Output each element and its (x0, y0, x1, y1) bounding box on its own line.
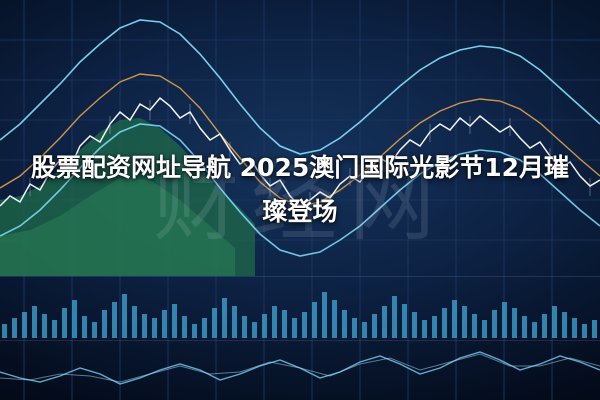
oscillator-signal-line (0, 354, 600, 382)
chart-screenshot: 财经网 股票配资网址导航 2025澳门国际光影节12月璀璨登场 (0, 0, 600, 400)
volume-bars (2, 292, 597, 338)
headline-text: 股票配资网址导航 2025澳门国际光影节12月璀璨登场 (0, 146, 600, 234)
